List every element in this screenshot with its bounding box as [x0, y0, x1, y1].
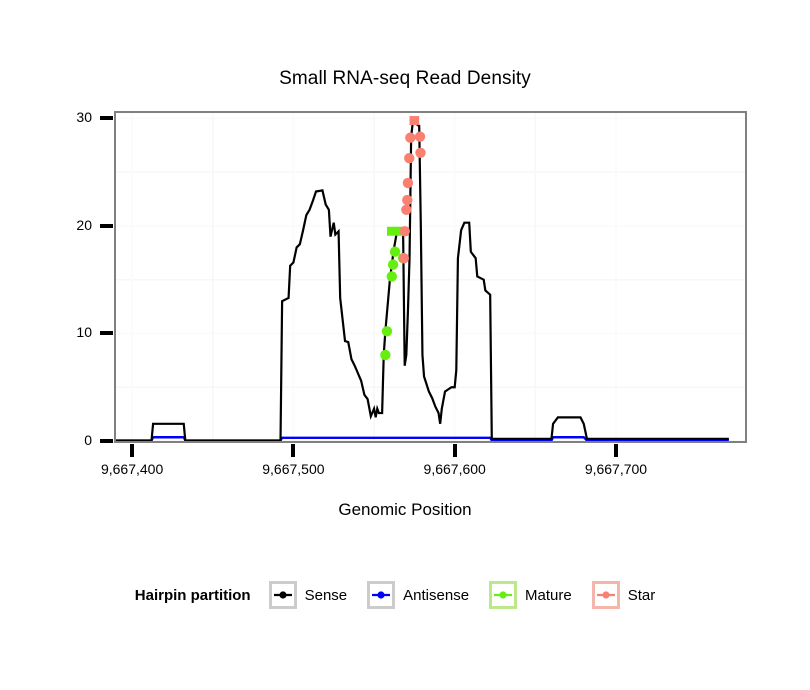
legend-key-glyph-icon [371, 585, 391, 605]
legend-key-glyph-icon [596, 585, 616, 605]
y-tick-20 [100, 224, 113, 228]
legend-key-sense [269, 581, 297, 609]
data-point-mature-2 [387, 271, 397, 281]
legend-key-glyph-icon [273, 585, 293, 605]
legend-key-glyph-icon [493, 585, 513, 605]
legend-item-mature[interactable]: Mature [489, 581, 586, 609]
x-tick-label-9667700: 9,667,700 [561, 461, 671, 477]
x-tick-label-9667500: 9,667,500 [238, 461, 348, 477]
data-point-mature-4 [390, 247, 400, 257]
legend-items: SenseAntisenseMatureStar [269, 581, 676, 609]
x-tick-label-9667600: 9,667,600 [400, 461, 510, 477]
x-tick-label-9667400: 9,667,400 [77, 461, 187, 477]
legend-key-star [592, 581, 620, 609]
plot-svg [116, 113, 745, 441]
x-axis-label: Genomic Position [0, 500, 810, 520]
legend-label-mature: Mature [525, 587, 572, 604]
x-tick-9667500 [291, 444, 295, 457]
legend-label-star: Star [628, 587, 656, 604]
legend: Hairpin partition SenseAntisenseMatureSt… [0, 581, 810, 609]
data-point-star-8 [415, 148, 425, 158]
gridlines [116, 113, 745, 441]
data-point-mature-3 [388, 259, 398, 269]
legend-item-sense[interactable]: Sense [269, 581, 362, 609]
x-tick-9667400 [130, 444, 134, 457]
data-point-star-4 [403, 178, 413, 188]
series-sense [116, 123, 729, 441]
legend-key-mature [489, 581, 517, 609]
legend-title: Hairpin partition [135, 587, 251, 604]
chart-root: Small RNA-seq Read Density Total Reads G… [0, 0, 810, 690]
data-point-mature-0 [380, 350, 390, 360]
y-tick-label-20: 20 [58, 217, 92, 233]
x-tick-9667600 [453, 444, 457, 457]
data-point-star-5 [404, 153, 414, 163]
data-point-star-0 [399, 253, 409, 263]
data-point-star-2 [401, 205, 411, 215]
series-line-sense [116, 123, 729, 441]
y-tick-10 [100, 331, 113, 335]
y-tick-30 [100, 116, 113, 120]
data-point-star-7 [415, 131, 425, 141]
chart-title: Small RNA-seq Read Density [0, 68, 810, 90]
x-tick-9667700 [614, 444, 618, 457]
data-point-star-1 [399, 226, 409, 236]
data-point-star-6 [405, 133, 415, 143]
plot-panel [114, 111, 747, 443]
legend-key-antisense [367, 581, 395, 609]
data-point-mature-1 [382, 326, 392, 336]
y-tick-0 [100, 439, 113, 443]
legend-label-antisense: Antisense [403, 587, 469, 604]
y-tick-label-30: 30 [58, 109, 92, 125]
legend-label-sense: Sense [305, 587, 348, 604]
y-tick-label-0: 0 [58, 432, 92, 448]
legend-item-star[interactable]: Star [592, 581, 670, 609]
data-point-star-3 [402, 195, 412, 205]
y-tick-label-10: 10 [58, 324, 92, 340]
legend-item-antisense[interactable]: Antisense [367, 581, 483, 609]
